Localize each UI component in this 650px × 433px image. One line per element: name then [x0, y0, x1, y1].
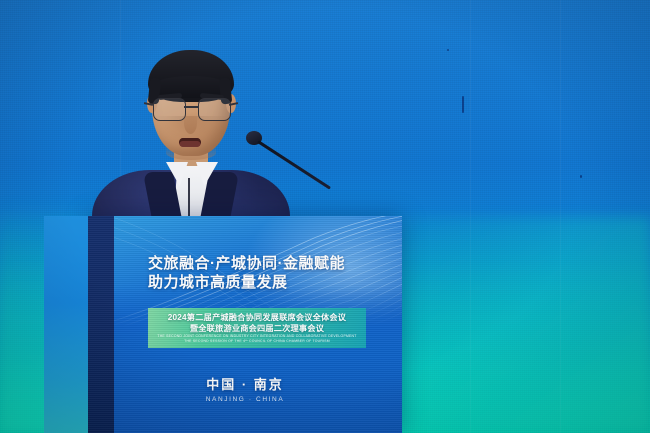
led-panel-seam [470, 0, 471, 433]
banner-chinese-line2: 暨全联旅游业商会四届二次理事会议 [190, 323, 324, 334]
podium-city-label: 中国 · 南京 NANJING · CHINA [88, 374, 402, 403]
conference-name-banner: 2024第二届产城融合协同发展联席会议全体会议 暨全联旅游业商会四届二次理事会议… [148, 308, 366, 348]
eyeglass-lens-left [153, 98, 186, 121]
conference-photo: 交旅融合·产城协同·金融赋能 助力城市高质量发展 2024第二届产城融合协同发展… [0, 0, 650, 433]
podium-left-light-panel [44, 216, 90, 433]
city-chinese: 中国 · 南京 [88, 374, 402, 393]
backdrop-speck [462, 96, 464, 113]
speaker-chin [166, 146, 216, 160]
podium-slogan: 交旅融合·产城协同·金融赋能 助力城市高质量发展 [148, 254, 345, 292]
podium: 交旅融合·产城协同·金融赋能 助力城市高质量发展 2024第二届产城融合协同发展… [88, 216, 402, 433]
backdrop-speck [447, 49, 449, 51]
banner-chinese-line1: 2024第二届产城融合协同发展联席会议全体会议 [168, 312, 346, 323]
backdrop-speck [580, 175, 582, 178]
podium-slogan-line1: 交旅融合·产城协同·金融赋能 [148, 255, 345, 272]
banner-english-line2: THE SECOND SESSION OF THE 4ᵗʰ COUNCIL OF… [184, 339, 330, 344]
eyeglass-bridge [184, 106, 198, 108]
eyeglass-lens-right [198, 98, 231, 121]
shirt-collar [162, 162, 222, 188]
led-panel-seam [560, 0, 561, 433]
podium-slogan-line2: 助力城市高质量发展 [148, 273, 345, 292]
speaker-nose [184, 112, 197, 134]
city-english: NANJING · CHINA [88, 396, 402, 403]
